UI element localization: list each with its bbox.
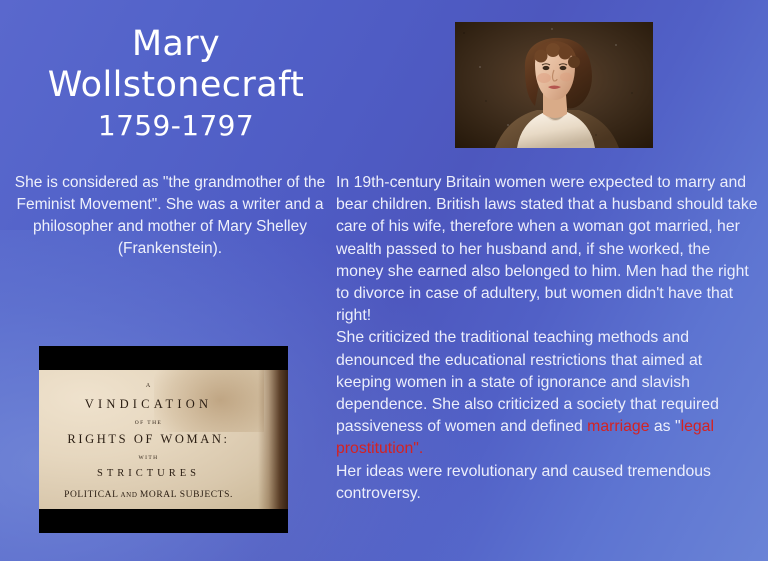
intro-paragraph: She is considered as "the grandmother of… <box>14 172 326 260</box>
body-paragraph-2: She criticized the traditional teaching … <box>336 327 760 460</box>
book-subjects-and: AND <box>119 491 140 499</box>
title-dates: 1759-1797 <box>0 108 352 144</box>
book-line-vindication: VINDICATION <box>39 397 258 412</box>
slide-canvas: Mary Wollstonecraft 1759-1797 <box>0 0 768 561</box>
book-page-text: A VINDICATION OF THE RIGHTS OF WOMAN: WI… <box>39 370 258 509</box>
book-line-subjects: POLITICAL AND MORAL SUBJECTS. <box>39 490 258 500</box>
book-line-of-the: OF THE <box>39 420 258 426</box>
book-title-page-image: A VINDICATION OF THE RIGHTS OF WOMAN: WI… <box>39 346 288 533</box>
page-title: Mary Wollstonecraft 1759-1797 <box>0 24 352 144</box>
body-paragraph-3: Her ideas were revolutionary and caused … <box>336 461 760 505</box>
portrait-illustration <box>455 22 653 148</box>
book-line-rights: RIGHTS OF WOMAN: <box>39 432 258 447</box>
title-line-2: Wollstonecraft <box>0 65 352 106</box>
portrait-image <box>455 22 653 148</box>
book-page: A VINDICATION OF THE RIGHTS OF WOMAN: WI… <box>39 370 288 509</box>
book-subjects-pre: POLITICAL <box>64 490 118 500</box>
body-p2-mid: as " <box>650 418 681 435</box>
body-column: In 19th-century Britain women were expec… <box>336 172 760 505</box>
title-line-1: Mary <box>0 24 352 65</box>
book-line-a: A <box>39 383 258 389</box>
book-subjects-post: MORAL SUBJECTS. <box>140 490 233 500</box>
body-paragraph-1: In 19th-century Britain women were expec… <box>336 172 760 327</box>
book-line-with: WITH <box>39 455 258 461</box>
book-line-strictures: STRICTURES <box>39 468 258 479</box>
body-p2-end: ". <box>413 440 423 457</box>
highlight-marriage: marriage <box>587 418 649 435</box>
